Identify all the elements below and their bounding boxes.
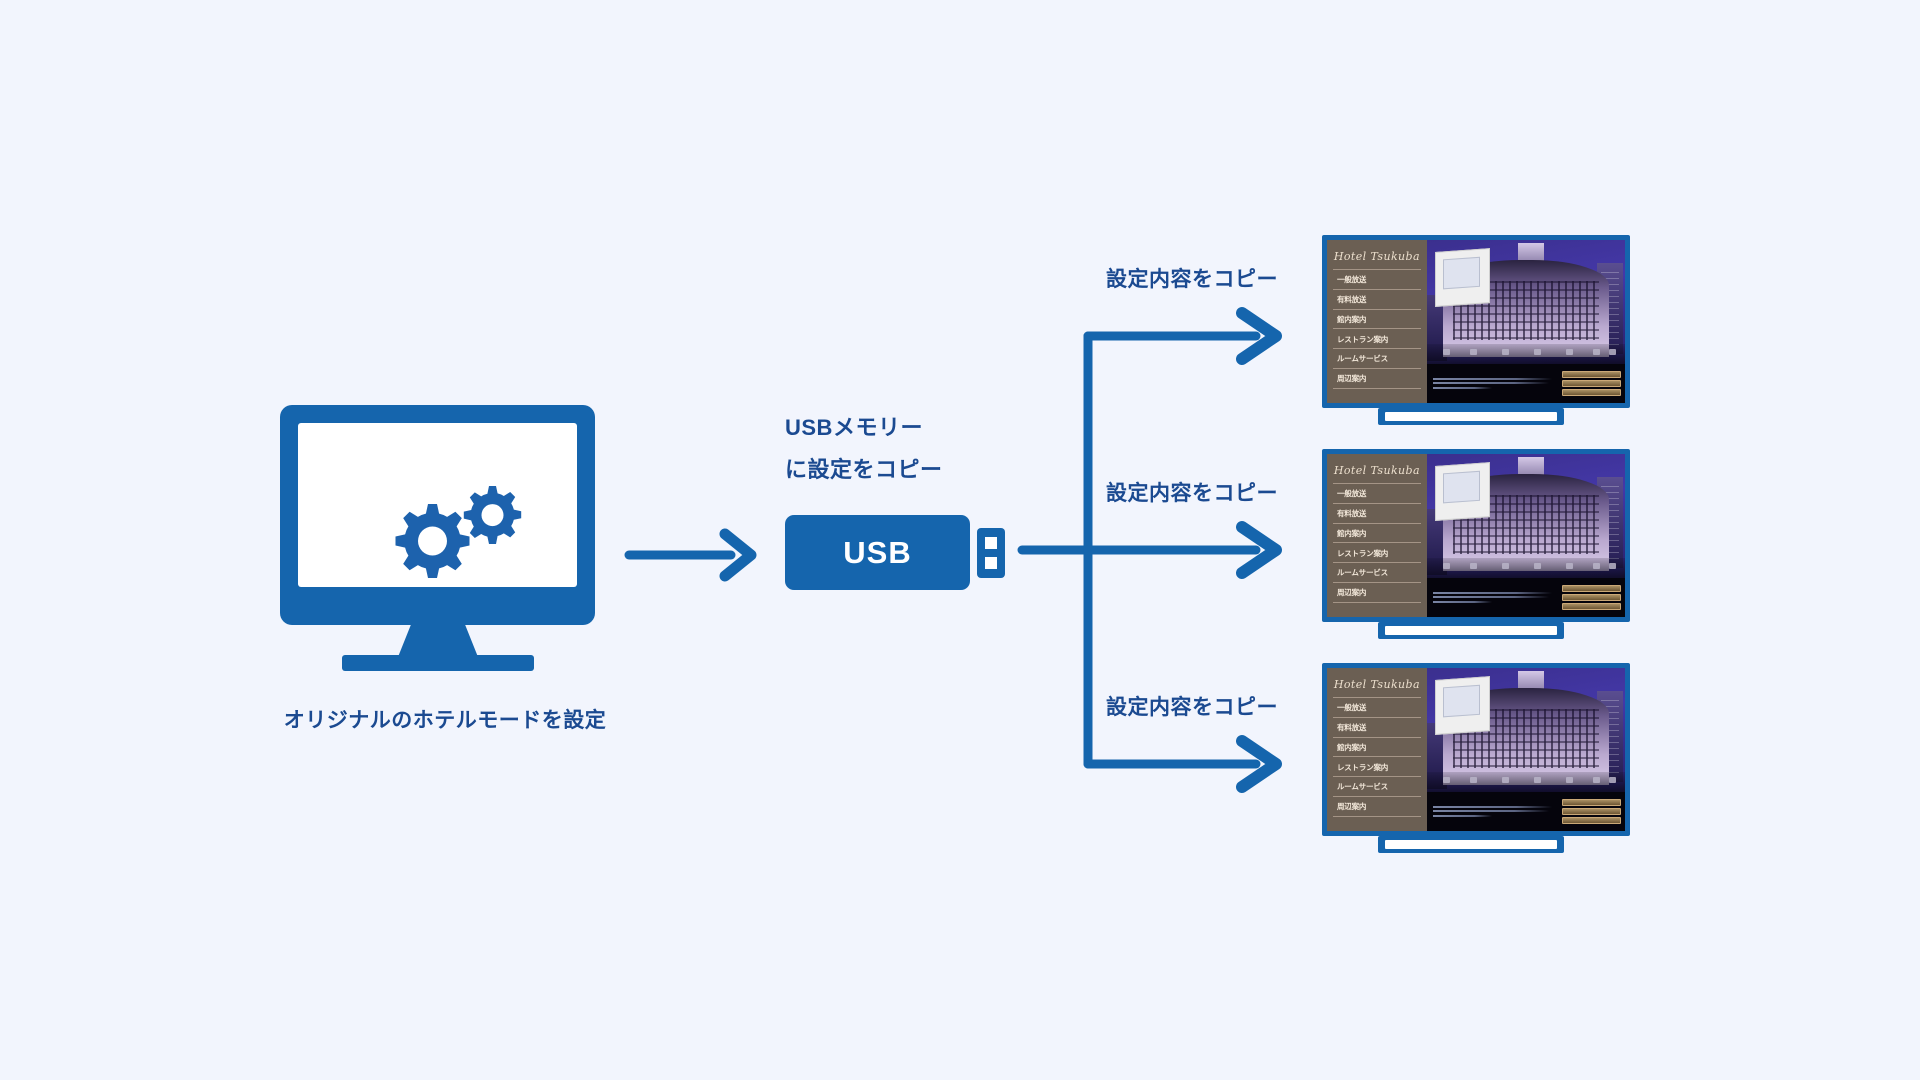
tv-caption-button <box>1562 594 1621 601</box>
usb-label-line2: に設定をコピー <box>785 454 943 486</box>
photo-popup-card <box>1435 462 1490 521</box>
tv-screen: Hotel Tsukuba 一般放送 有料放送 館内案内 レストラン案内 ルーム… <box>1327 668 1625 831</box>
tv-stand <box>1378 836 1564 853</box>
tv-menu-item: 周辺案内 <box>1333 369 1421 389</box>
tv-menu: Hotel Tsukuba 一般放送 有料放送 館内案内 レストラン案内 ルーム… <box>1327 668 1427 831</box>
tv-menu: Hotel Tsukuba 一般放送 有料放送 館内案内 レストラン案内 ルーム… <box>1327 240 1427 403</box>
tv-menu-item: 一般放送 <box>1333 484 1421 504</box>
tv-icon-bar <box>1427 344 1625 364</box>
tv-menu-item: 有料放送 <box>1333 718 1421 738</box>
tv-stand <box>1378 622 1564 639</box>
tv-unit-1: Hotel Tsukuba 一般放送 有料放送 館内案内 レストラン案内 ルーム… <box>1322 235 1630 425</box>
usb-pin-bottom <box>985 557 997 569</box>
monitor-neck <box>398 625 478 657</box>
tv-menu-item: ルームサービス <box>1333 349 1421 369</box>
tv-menu-item: 館内案内 <box>1333 524 1421 544</box>
tv-caption-text <box>1431 590 1562 605</box>
tv-caption-button <box>1562 808 1621 815</box>
tv-caption-buttons <box>1562 369 1621 398</box>
tv-menu-item: ルームサービス <box>1333 777 1421 797</box>
tv-caption-text <box>1431 804 1562 819</box>
tv-icon-bar <box>1427 772 1625 792</box>
tv-caption-button <box>1562 799 1621 806</box>
tv-menu-item: 周辺案内 <box>1333 583 1421 603</box>
tv-menu-item: 館内案内 <box>1333 738 1421 758</box>
copy-label-2: 設定内容をコピー <box>1106 479 1278 509</box>
tv-menu-item: 有料放送 <box>1333 290 1421 310</box>
tv-icon-bar <box>1427 558 1625 578</box>
monitor-bezel <box>280 405 595 625</box>
usb-body: USB <box>785 515 970 590</box>
tv-caption-buttons <box>1562 797 1621 826</box>
tv-menu-item: 周辺案内 <box>1333 797 1421 817</box>
tv-menu-item: 有料放送 <box>1333 504 1421 524</box>
usb-connector-icon <box>977 528 1005 578</box>
usb-pin-top <box>985 537 997 549</box>
tv-frame: Hotel Tsukuba 一般放送 有料放送 館内案内 レストラン案内 ルーム… <box>1322 663 1630 836</box>
tv-unit-2: Hotel Tsukuba 一般放送 有料放送 館内案内 レストラン案内 ルーム… <box>1322 449 1630 639</box>
gears-icon <box>386 478 536 578</box>
source-monitor <box>280 405 595 625</box>
tv-menu-item: レストラン案内 <box>1333 757 1421 777</box>
tv-hotel-logo: Hotel Tsukuba <box>1333 461 1421 484</box>
tv-menu-item: 館内案内 <box>1333 310 1421 330</box>
tv-hotel-photo <box>1427 454 1625 617</box>
tv-caption-bar <box>1427 578 1625 617</box>
photo-popup-card <box>1435 676 1490 735</box>
tv-caption-bar <box>1427 792 1625 831</box>
tv-menu-item: ルームサービス <box>1333 563 1421 583</box>
tv-screen: Hotel Tsukuba 一般放送 有料放送 館内案内 レストラン案内 ルーム… <box>1327 454 1625 617</box>
photo-popup-card <box>1435 248 1490 307</box>
tv-hotel-photo <box>1427 240 1625 403</box>
copy-label-1: 設定内容をコピー <box>1106 265 1278 295</box>
tv-hotel-logo: Hotel Tsukuba <box>1333 675 1421 698</box>
tv-caption-button <box>1562 585 1621 592</box>
tv-screen: Hotel Tsukuba 一般放送 有料放送 館内案内 レストラン案内 ルーム… <box>1327 240 1625 403</box>
tv-caption-button <box>1562 603 1621 610</box>
diagram-canvas: オリジナルのホテルモードを設定 USBメモリー に設定をコピー USB <box>0 0 1920 1080</box>
usb-memory-device: USB <box>785 515 1015 590</box>
arrow-monitor-to-usb <box>625 525 770 585</box>
usb-label-line1: USBメモリー <box>785 412 923 444</box>
tv-caption-button <box>1562 817 1621 824</box>
tv-menu-item: 一般放送 <box>1333 270 1421 290</box>
tv-frame: Hotel Tsukuba 一般放送 有料放送 館内案内 レストラン案内 ルーム… <box>1322 235 1630 408</box>
tv-caption-bar <box>1427 364 1625 403</box>
tv-menu-item: レストラン案内 <box>1333 329 1421 349</box>
tv-unit-3: Hotel Tsukuba 一般放送 有料放送 館内案内 レストラン案内 ルーム… <box>1322 663 1630 853</box>
tv-caption-button <box>1562 371 1621 378</box>
tv-menu-item: 一般放送 <box>1333 698 1421 718</box>
tv-menu: Hotel Tsukuba 一般放送 有料放送 館内案内 レストラン案内 ルーム… <box>1327 454 1427 617</box>
tv-frame: Hotel Tsukuba 一般放送 有料放送 館内案内 レストラン案内 ルーム… <box>1322 449 1630 622</box>
usb-body-label: USB <box>843 535 911 571</box>
tv-stand <box>1378 408 1564 425</box>
tv-hotel-logo: Hotel Tsukuba <box>1333 247 1421 270</box>
tv-caption-button <box>1562 380 1621 387</box>
arrow-branch-usb-to-tvs <box>1020 300 1340 800</box>
tv-caption-text <box>1431 376 1562 391</box>
tv-caption-buttons <box>1562 583 1621 612</box>
tv-caption-button <box>1562 389 1621 396</box>
monitor-foot <box>342 655 534 671</box>
tv-hotel-photo <box>1427 668 1625 831</box>
monitor-screen <box>298 423 577 587</box>
source-caption: オリジナルのホテルモードを設定 <box>255 706 635 736</box>
tv-menu-item: レストラン案内 <box>1333 543 1421 563</box>
copy-label-3: 設定内容をコピー <box>1106 693 1278 723</box>
